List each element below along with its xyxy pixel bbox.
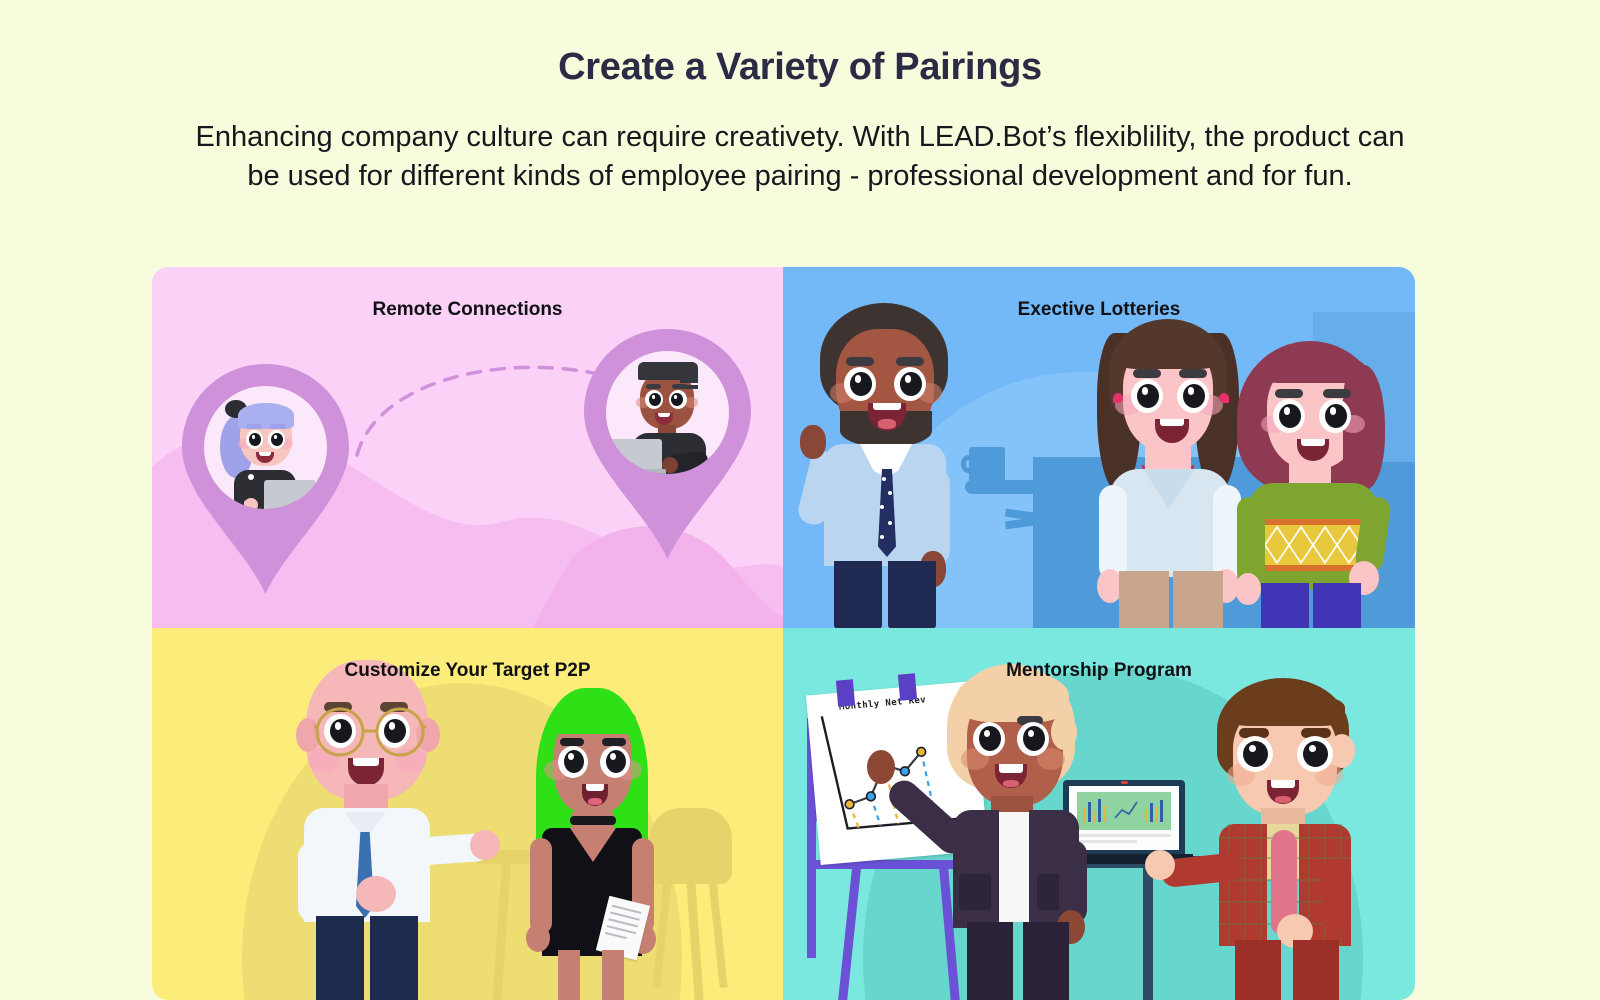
map-pin-left [182, 364, 349, 534]
map-pin-right [584, 329, 751, 499]
illustration-exective-lotteries [783, 267, 1415, 628]
card-title-exective-lotteries: Exective Lotteries [783, 267, 1415, 321]
pairing-cards-grid: Remote Connections [152, 267, 1415, 1000]
character-mentee [1203, 678, 1393, 1000]
illustration-mentorship-program: Monthly Net Rev [783, 628, 1415, 1000]
character-woman-argyle [1231, 335, 1411, 628]
page-title: Create a Variety of Pairings [0, 46, 1600, 89]
illustration-customize-p2p [152, 628, 783, 1000]
card-title-remote-connections: Remote Connections [152, 267, 783, 321]
character-green-hair-woman [510, 688, 680, 1000]
character-mentor [933, 664, 1133, 1000]
card-title-customize-p2p: Customize Your Target P2P [152, 628, 783, 682]
character-waving-man [798, 299, 978, 628]
clip-left [836, 679, 855, 706]
card-remote-connections[interactable]: Remote Connections [152, 267, 783, 628]
cafe-table-stem [1045, 494, 1054, 574]
character-bald-man [282, 660, 492, 1000]
page-subtitle: Enhancing company culture can require cr… [190, 118, 1410, 196]
card-exective-lotteries[interactable]: Exective Lotteries [783, 267, 1415, 628]
glasses-icon [314, 706, 426, 758]
card-title-mentorship-program: Mentorship Program [783, 628, 1415, 682]
illustration-remote-connections [152, 267, 783, 628]
card-customize-your-target-p2p[interactable]: Customize Your Target P2P [152, 628, 783, 1000]
card-mentorship-program[interactable]: Monthly Net Rev [783, 628, 1415, 1000]
page-root: Create a Variety of Pairings Enhancing c… [0, 0, 1600, 1000]
